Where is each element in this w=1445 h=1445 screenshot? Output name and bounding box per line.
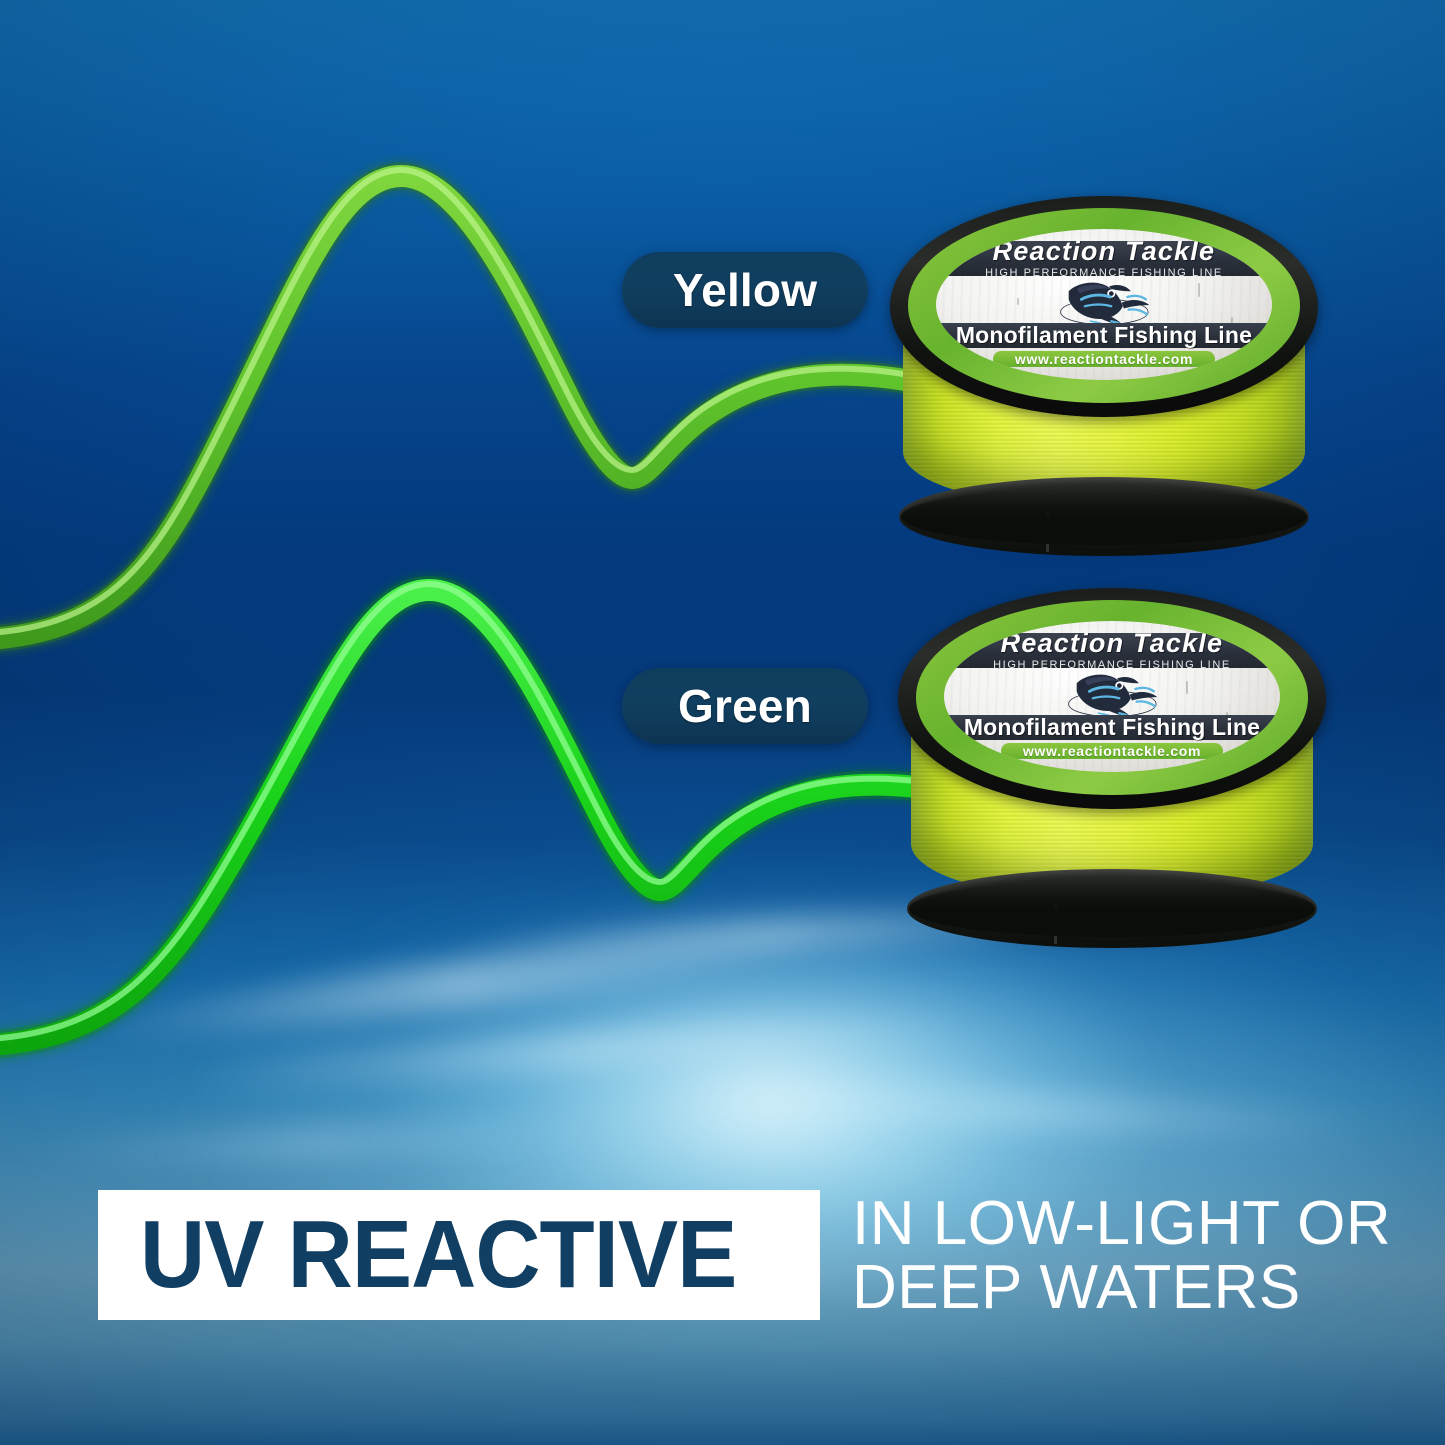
spool-product-band: Monofilament Fishing Line: [944, 715, 1280, 740]
spool-green[interactable]: Reaction Tackle HIGH PERFORMANCE FISHING…: [898, 588, 1326, 944]
spool-bottom-rim-shade: [901, 488, 1308, 545]
banner-subline-1: IN LOW-LIGHT OR: [852, 1192, 1372, 1256]
spool-product-band: Monofilament Fishing Line: [936, 323, 1272, 348]
brand-name: Reaction Tackle: [993, 241, 1216, 265]
banner-headline: UV REACTIVE: [140, 1207, 736, 1303]
spool-label: Reaction Tackle HIGH PERFORMANCE FISHING…: [944, 621, 1280, 772]
uv-reactive-banner: UV REACTIVE: [98, 1190, 820, 1320]
product-name: Monofilament Fishing Line: [956, 322, 1252, 349]
callout-pill-yellow[interactable]: Yellow: [622, 252, 868, 328]
spool-green-ring: Reaction Tackle HIGH PERFORMANCE FISHING…: [916, 600, 1308, 794]
brand-url: www.reactiontackle.com: [1015, 351, 1193, 367]
yellow-line: [0, 170, 905, 640]
spool-url-pill: www.reactiontackle.com: [993, 351, 1214, 368]
spool-top-flange: Reaction Tackle HIGH PERFORMANCE FISHING…: [890, 196, 1318, 417]
green-line: [0, 584, 940, 1046]
banner-subtext: IN LOW-LIGHT OR DEEP WATERS: [852, 1192, 1372, 1321]
spool-yellow[interactable]: Reaction Tackle HIGH PERFORMANCE FISHING…: [890, 196, 1318, 552]
brand-url: www.reactiontackle.com: [1023, 743, 1201, 759]
spool-top-flange: Reaction Tackle HIGH PERFORMANCE FISHING…: [898, 588, 1326, 809]
product-marketing-image: Yellow Green Reaction Tackle: [0, 0, 1445, 1445]
callout-label-yellow: Yellow: [673, 263, 817, 317]
spool-green-ring: Reaction Tackle HIGH PERFORMANCE FISHING…: [908, 208, 1300, 402]
product-name: Monofilament Fishing Line: [964, 714, 1260, 741]
callout-label-green: Green: [678, 679, 812, 733]
brand-name: Reaction Tackle: [1001, 633, 1224, 657]
spool-label-header: Reaction Tackle HIGH PERFORMANCE FISHING…: [944, 633, 1280, 668]
spool-label: Reaction Tackle HIGH PERFORMANCE FISHING…: [936, 229, 1272, 380]
spool-url-pill: www.reactiontackle.com: [1001, 743, 1222, 760]
spool-bottom-rim-shade: [909, 880, 1316, 937]
spool-label-header: Reaction Tackle HIGH PERFORMANCE FISHING…: [936, 241, 1272, 276]
banner-subline-2: DEEP WATERS: [852, 1256, 1372, 1320]
callout-pill-green[interactable]: Green: [622, 668, 868, 744]
